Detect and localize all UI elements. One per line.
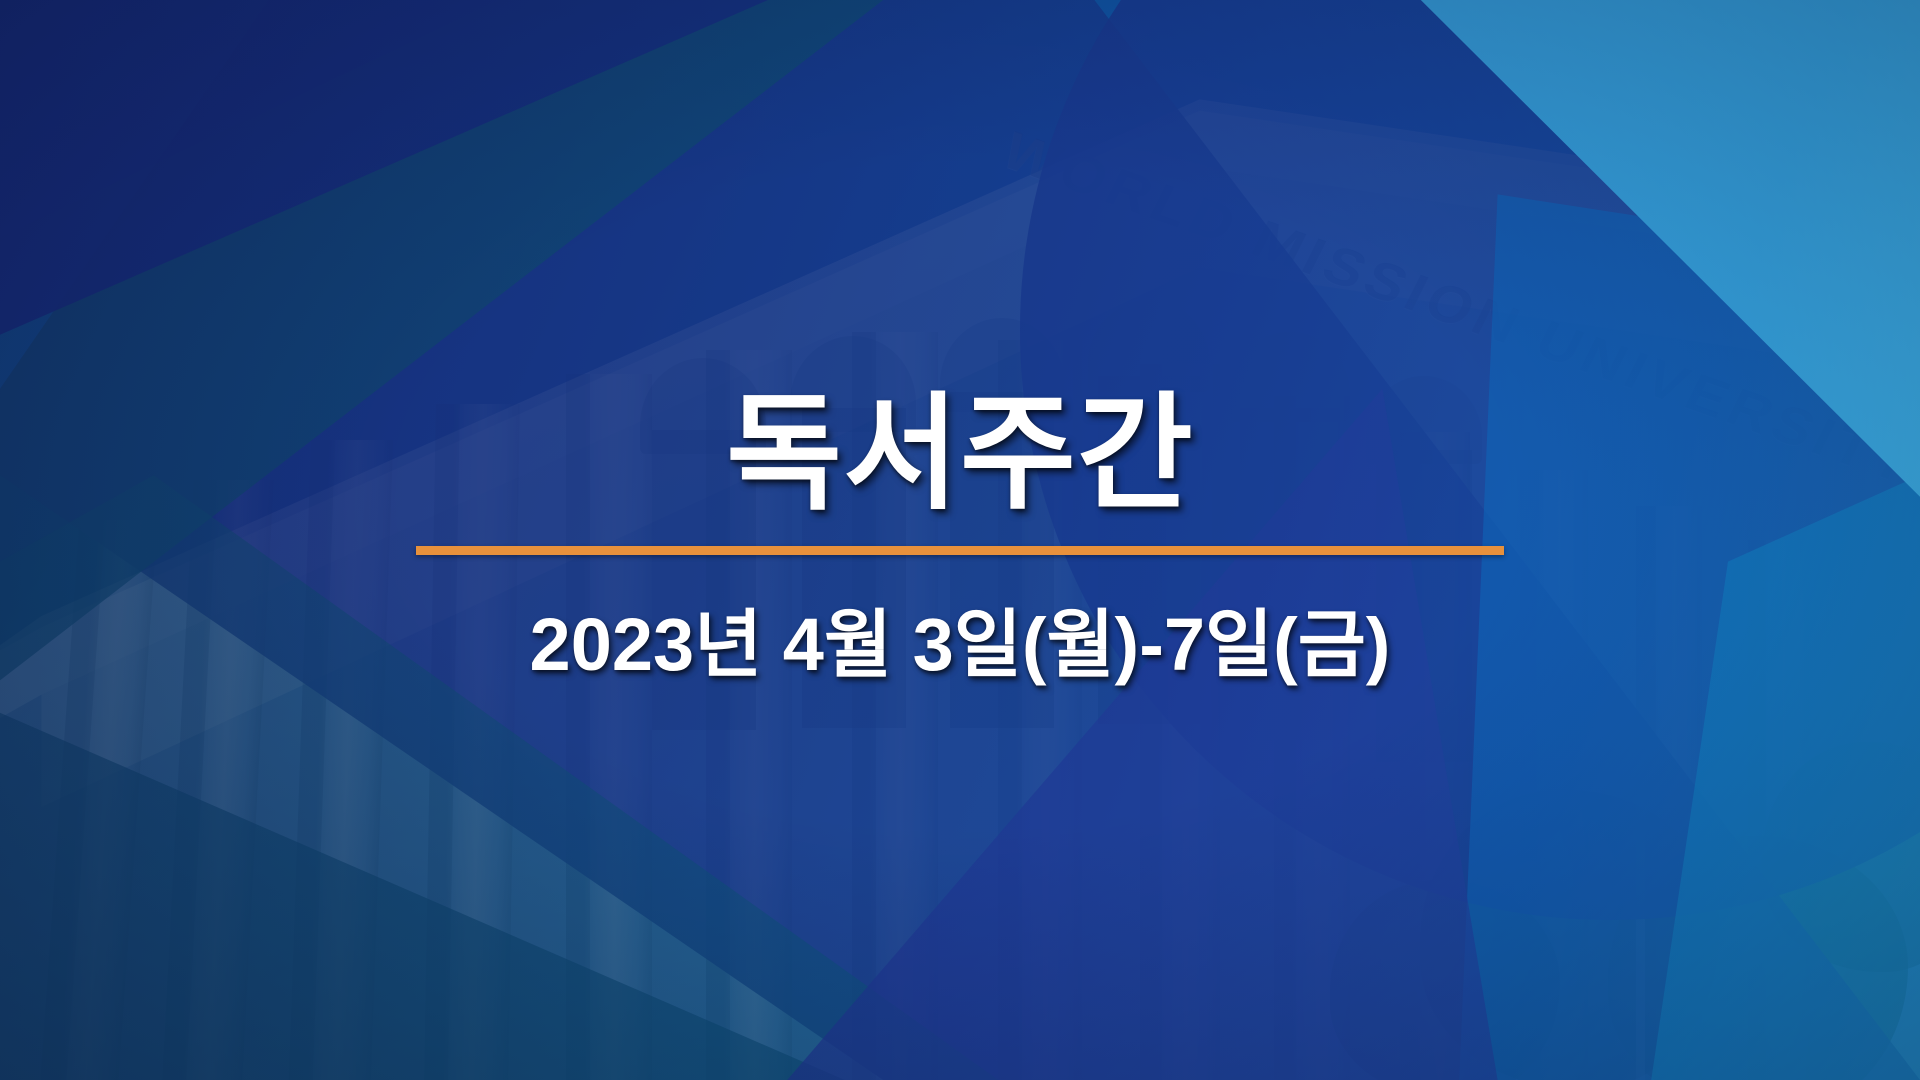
poster-content: 독서주간 2023년 4월 3일(월)-7일(금) [0,0,1920,1080]
poster-canvas: WORLD MISSION UNIVERSITY 독서주간 2023년 4월 3… [0,0,1920,1080]
poster-title: 독서주간 [726,388,1194,520]
title-divider [416,546,1504,555]
poster-subtitle: 2023년 4월 3일(월)-7일(금) [530,585,1391,692]
